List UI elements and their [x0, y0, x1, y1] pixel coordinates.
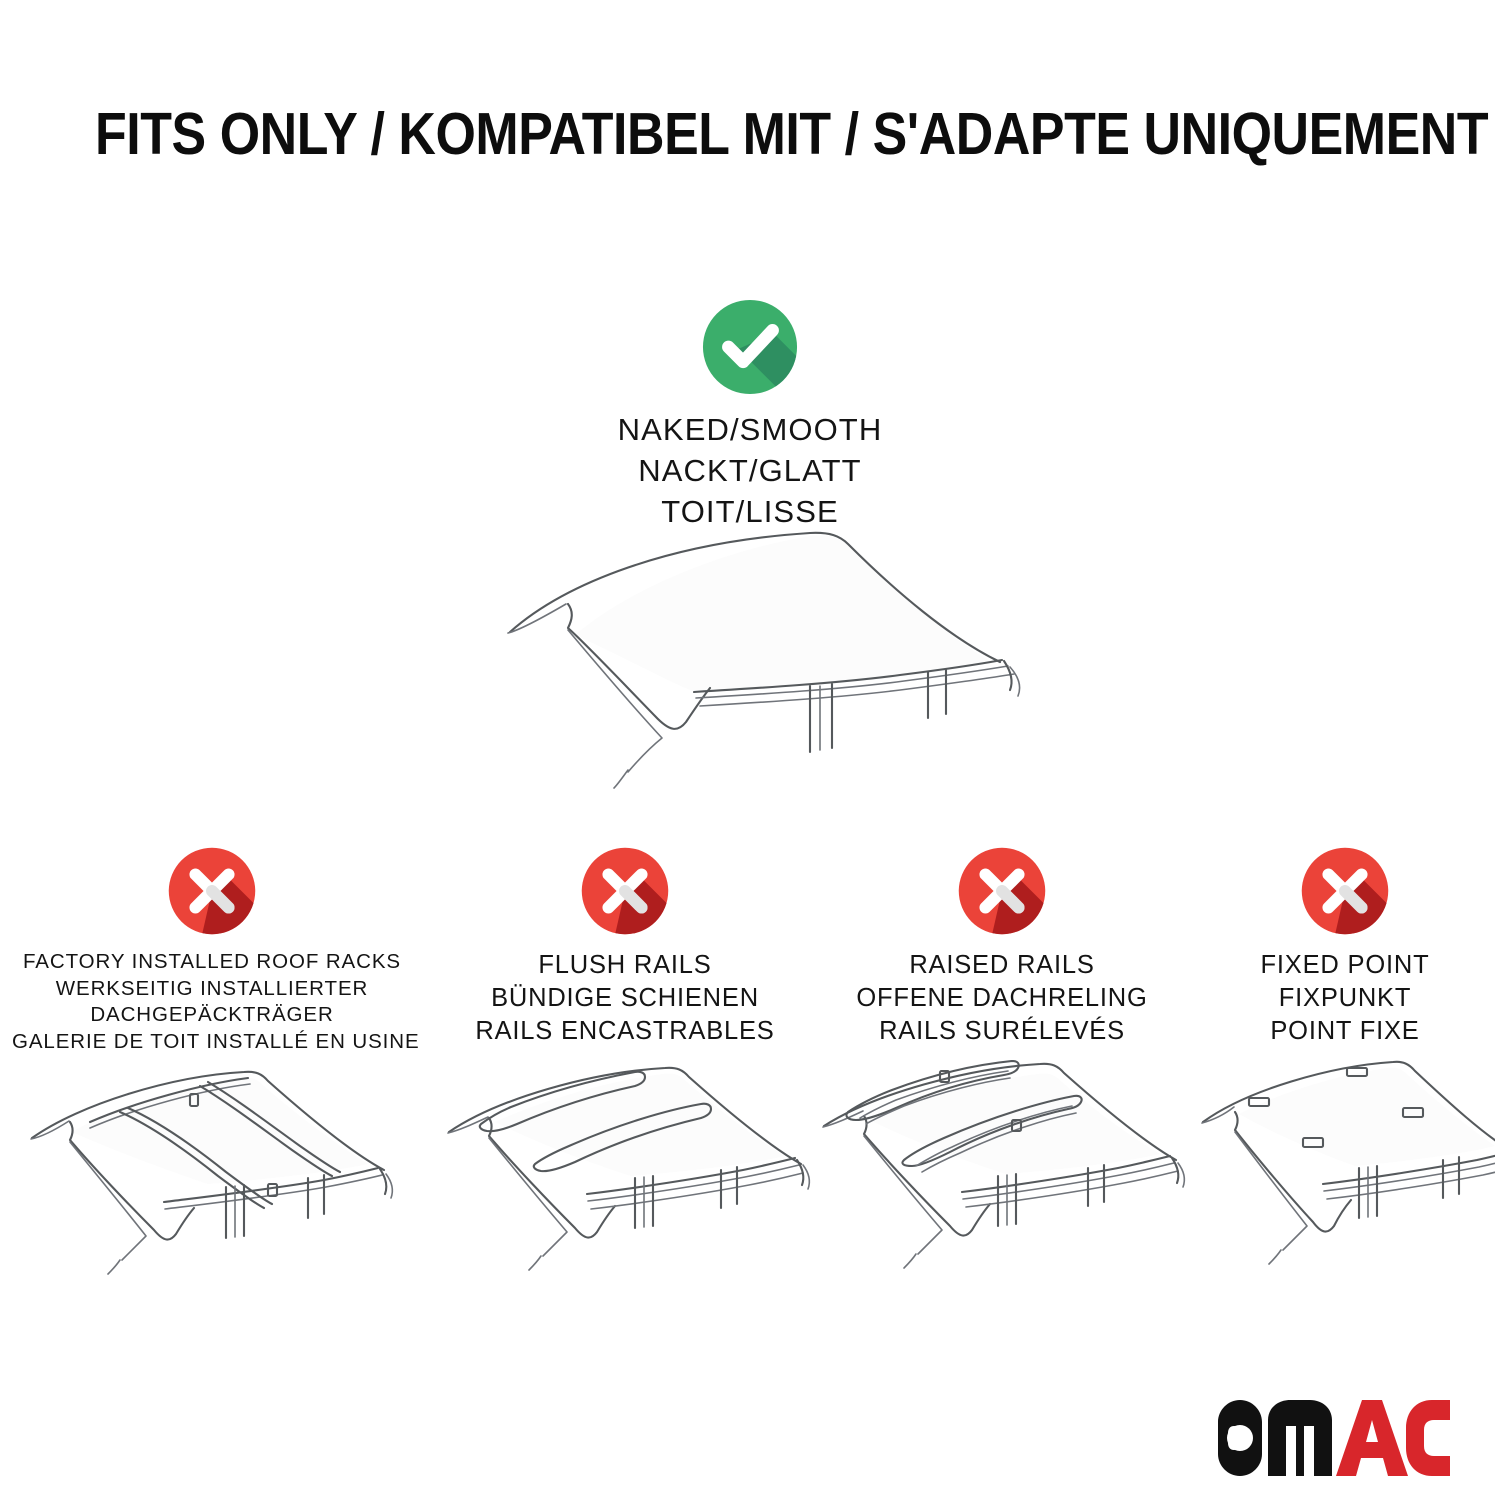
red-cross-icon — [1299, 845, 1391, 937]
label-de-1: OFFENE DACHRELING — [812, 982, 1192, 1015]
incompatible-column-factory-roof-racks: FACTORY INSTALLED ROOF RACKS WERKSEITIG … — [12, 845, 412, 1056]
label-de-1: BÜNDIGE SCHIENEN — [435, 982, 815, 1015]
incompatible-section: FACTORY INSTALLED ROOF RACKS WERKSEITIG … — [0, 845, 1500, 1285]
compatible-section: NAKED/SMOOTH NACKT/GLATT TOIT/LISSE — [0, 298, 1500, 533]
incompatible-label-flush-rails: FLUSH RAILS BÜNDIGE SCHIENEN RAILS ENCAS… — [435, 949, 815, 1048]
incompatible-column-raised-rails: RAISED RAILS OFFENE DACHRELING RAILS SUR… — [812, 845, 1192, 1048]
car-roof-flush-rails-illustration — [435, 1060, 815, 1275]
label-en: FIXED POINT — [1195, 949, 1495, 982]
red-cross-icon — [956, 845, 1048, 937]
car-roof-naked-smooth-illustration — [480, 520, 1040, 810]
red-cross-icon — [579, 845, 671, 937]
label-en: FACTORY INSTALLED ROOF RACKS — [12, 949, 412, 976]
label-fr: RAILS ENCASTRABLES — [435, 1015, 815, 1048]
incompatible-label-factory-roof-racks: FACTORY INSTALLED ROOF RACKS WERKSEITIG … — [12, 949, 412, 1056]
car-roof-factory-roof-racks-illustration — [12, 1060, 412, 1275]
page-title: FITS ONLY / KOMPATIBEL MIT / S'ADAPTE UN… — [0, 104, 1500, 166]
compatible-label-en: NAKED/SMOOTH — [0, 410, 1500, 451]
omac-logo — [1210, 1398, 1458, 1478]
label-en: FLUSH RAILS — [435, 949, 815, 982]
red-cross-icon — [166, 845, 258, 937]
label-fr: POINT FIXE — [1195, 1015, 1495, 1048]
label-fr: GALERIE DE TOIT INSTALLÉ EN USINE — [12, 1029, 412, 1056]
label-en: RAISED RAILS — [812, 949, 1192, 982]
car-roof-fixed-point-illustration — [1195, 1060, 1495, 1275]
label-de-2: DACHGEPÄCKTRÄGER — [12, 1002, 412, 1029]
label-de-1: WERKSEITIG INSTALLIERTER — [12, 976, 412, 1003]
incompatible-column-flush-rails: FLUSH RAILS BÜNDIGE SCHIENEN RAILS ENCAS… — [435, 845, 815, 1048]
incompatible-label-raised-rails: RAISED RAILS OFFENE DACHRELING RAILS SUR… — [812, 949, 1192, 1048]
car-roof-raised-rails-illustration — [812, 1060, 1192, 1275]
compatible-label: NAKED/SMOOTH NACKT/GLATT TOIT/LISSE — [0, 410, 1500, 533]
label-de-1: FIXPUNKT — [1195, 982, 1495, 1015]
incompatible-label-fixed-point: FIXED POINT FIXPUNKT POINT FIXE — [1195, 949, 1495, 1048]
incompatible-column-fixed-point: FIXED POINT FIXPUNKT POINT FIXE — [1195, 845, 1495, 1048]
green-check-icon — [701, 298, 799, 396]
page-title-text: FITS ONLY / KOMPATIBEL MIT / S'ADAPTE UN… — [95, 104, 1488, 166]
compatible-label-de: NACKT/GLATT — [0, 451, 1500, 492]
label-fr: RAILS SURÉLEVÉS — [812, 1015, 1192, 1048]
